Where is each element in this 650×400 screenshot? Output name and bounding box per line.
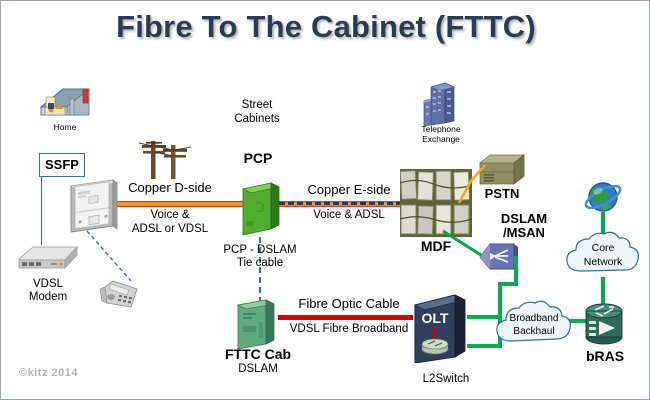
street-cabinets-line2: Cabinets	[217, 113, 297, 126]
green-cabinet-icon-pcp	[241, 179, 283, 237]
fibre-optic-line	[278, 315, 413, 320]
copper-d-side-line	[117, 201, 243, 207]
mdf-to-pstn-line	[457, 157, 487, 205]
copper-d-side-sub2: ADSL or VDSL	[111, 223, 229, 236]
street-cabinets-line1: Street	[217, 99, 297, 112]
core-network-label-line2: Network	[563, 256, 643, 268]
dslam-msan-line2: /MSAN	[488, 226, 560, 240]
copper-e-side-sub1: Voice & ADSL	[289, 209, 409, 222]
ssfp-label: SSFP	[39, 158, 85, 172]
dslam-msan-line1: DSLAM	[488, 212, 560, 226]
telephone-pole-icon	[139, 133, 191, 179]
copyright-label: ©kitz 2014	[19, 367, 78, 379]
switch-icon: OLT	[411, 291, 473, 363]
page-title: Fibre To The Cabinet (FTTC)	[1, 9, 650, 45]
vdsl-modem-label-line2: Modem	[8, 291, 88, 304]
tie-cable-line1: PCP - DSLAM	[208, 244, 312, 257]
pcp-label: PCP	[223, 151, 293, 166]
olt-sublabel: L2Switch	[406, 373, 486, 386]
fibre-title: Fibre Optic Cable	[287, 297, 411, 310]
home-label: Home	[35, 122, 95, 132]
telephone-exchange-line2: Exchange	[401, 134, 481, 144]
copper-d-side-sub1: Voice &	[115, 209, 225, 222]
tie-cable-line2: Tie cable	[215, 257, 305, 270]
vdsl-modem-label-line1: VDSL	[8, 278, 88, 291]
ssfp-bracket-line	[41, 177, 42, 245]
cloud-icon-backhaul	[493, 297, 575, 351]
house-icon	[37, 83, 93, 121]
green-cabinet-icon-fttc	[236, 296, 280, 352]
mdf-to-dslam-line	[441, 229, 489, 261]
bras-label: bRAS	[574, 349, 636, 364]
modem-icon	[15, 241, 81, 275]
backhaul-label-line1: Broadband	[493, 313, 575, 324]
globe-icon	[582, 179, 624, 217]
exchange-building-icon	[421, 79, 461, 127]
core-network-label-line1: Core	[563, 242, 643, 254]
telephone-exchange-line1: Telephone	[401, 124, 481, 134]
copper-e-side-title: Copper E-side	[289, 183, 409, 196]
router-icon	[581, 301, 627, 347]
backhaul-label-line2: Backhaul	[493, 326, 575, 337]
cloud-icon-core	[563, 229, 643, 281]
telephone-handset-icon	[97, 277, 143, 315]
svg-text:OLT: OLT	[422, 310, 449, 326]
copper-e-side-dashed-overlay	[279, 202, 411, 205]
fttc-cab-label-line1: FTTC Cab	[213, 347, 303, 362]
diagram-canvas: Fibre To The Cabinet (FTTC) Home	[0, 0, 650, 400]
fibre-sub1: VDSL Fibre Broadband	[283, 323, 415, 336]
fttc-cab-label-line2: DSLAM	[213, 363, 303, 376]
copper-d-side-title: Copper D-side	[115, 181, 225, 194]
